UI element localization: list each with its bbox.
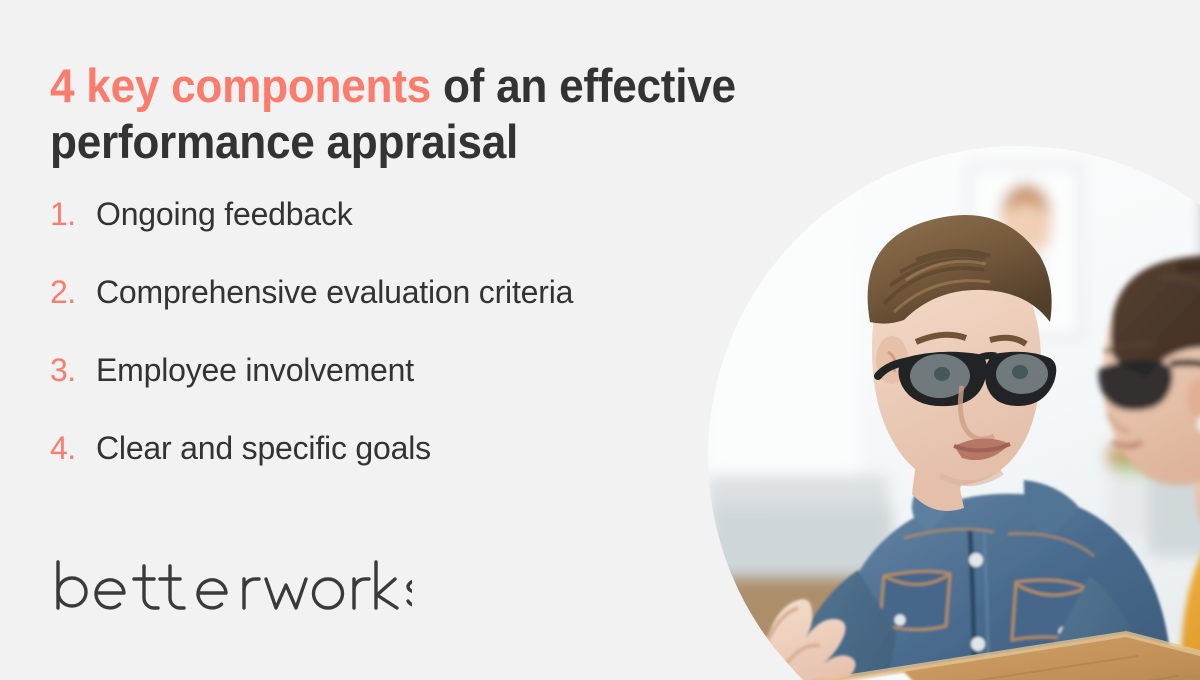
headline-accent: 4 key components [50, 59, 431, 112]
list-item-label: Comprehensive evaluation criteria [96, 274, 573, 311]
list-item: 1. Ongoing feedback [50, 196, 750, 274]
list-item: 3. Employee involvement [50, 352, 750, 430]
photo-container: Two colleagues in a meeting discussing p… [700, 130, 1200, 680]
list-item-label: Employee involvement [96, 352, 414, 389]
list-item-number: 4. [50, 430, 96, 467]
list-item-number: 2. [50, 274, 96, 311]
components-list: 1. Ongoing feedback 2. Comprehensive eva… [50, 196, 750, 508]
betterworks-logo: betterworks [52, 552, 412, 616]
list-item-number: 3. [50, 352, 96, 389]
photo-circle-mask: Two colleagues in a meeting discussing p… [708, 146, 1200, 680]
page-title: 4 key components of an effective perform… [50, 58, 811, 170]
list-item-label: Ongoing feedback [96, 196, 353, 233]
list-item: 4. Clear and specific goals [50, 430, 750, 508]
meeting-photo: Two colleagues in a meeting discussing p… [708, 146, 1200, 680]
list-item-label: Clear and specific goals [96, 430, 431, 467]
list-item-number: 1. [50, 196, 96, 233]
graphic-canvas: 4 key components of an effective perform… [0, 0, 1200, 680]
list-item: 2. Comprehensive evaluation criteria [50, 274, 750, 352]
